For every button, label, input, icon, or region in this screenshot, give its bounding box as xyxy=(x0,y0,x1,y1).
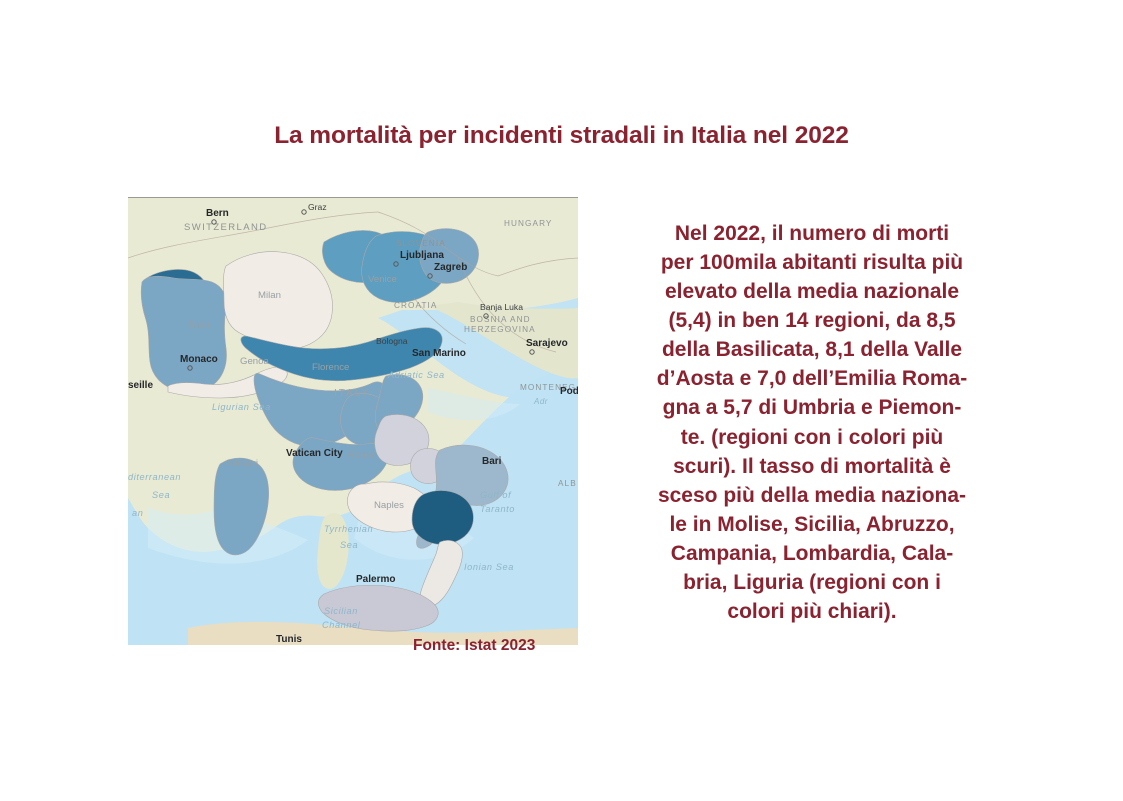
map-label-italy: ITALY xyxy=(334,388,370,399)
map-label-an: an xyxy=(132,508,143,518)
text-line: sceso più della media naziona- xyxy=(614,481,1010,510)
map-label-zagreb: Zagreb xyxy=(434,262,467,273)
text-line: della Basilicata, 8,1 della Valle xyxy=(614,335,1010,364)
map-label-taranto: Taranto xyxy=(480,504,515,514)
description-text: Nel 2022, il numero di morti per 100mila… xyxy=(614,219,1010,626)
map-label-ljubljana: Ljubljana xyxy=(400,250,444,261)
map-label-marseille: seille xyxy=(128,380,153,391)
map-label-milan: Milan xyxy=(258,290,281,301)
map-label-naples: Naples xyxy=(374,500,404,511)
text-line: colori più chiari). xyxy=(614,597,1010,626)
text-line: elevato della media nazionale xyxy=(614,277,1010,306)
italy-choropleth-map[interactable]: SWITZERLAND SLOVENIA CROATIA HUNGARY BOS… xyxy=(128,197,578,645)
map-label-adriatic-sea: Adriatic Sea xyxy=(387,370,445,380)
map-label-rome: Rome xyxy=(348,450,374,461)
map-label-bologna: Bologna xyxy=(376,336,408,346)
page-title: La mortalità per incidenti stradali in I… xyxy=(0,122,1123,150)
map-label-graz: Graz xyxy=(308,202,327,212)
map-label-bari: Bari xyxy=(482,456,502,467)
map-label-herzegovina: HERZEGOVINA xyxy=(464,325,536,334)
map-label-tyrrhenian-2: Sea xyxy=(340,540,358,550)
map-label-bosnia: BOSNIA AND xyxy=(470,315,531,324)
map-label-sassari: Sassari xyxy=(226,458,258,469)
text-line: scuri). Il tasso di mortalità è xyxy=(614,452,1010,481)
text-line: le in Molise, Sicilia, Abruzzo, xyxy=(614,510,1010,539)
map-label-channel: Channel xyxy=(322,620,361,630)
text-line: (5,4) in ben 14 regioni, da 8,5 xyxy=(614,306,1010,335)
region-basilicata xyxy=(412,491,473,545)
map-label-hungary: HUNGARY xyxy=(504,219,553,228)
map-label-ligurian-sea: Ligurian Sea xyxy=(212,402,271,412)
map-label-croatia: CROATIA xyxy=(394,301,437,310)
text-line: per 100mila abitanti risulta più xyxy=(614,248,1010,277)
map-label-adr: Adr xyxy=(533,397,548,406)
text-line: te. (regioni con i colori più xyxy=(614,423,1010,452)
map-label-slovenia: SLOVENIA xyxy=(396,239,446,248)
map-figure: SWITZERLAND SLOVENIA CROATIA HUNGARY BOS… xyxy=(128,197,578,645)
map-label-monaco: Monaco xyxy=(180,354,218,365)
map-label-sicilian: Sicilian xyxy=(324,606,358,616)
text-line: Nel 2022, il numero di morti xyxy=(614,219,1010,248)
map-label-sarajevo: Sarajevo xyxy=(526,338,568,349)
map-label-mediterranean: diterranean xyxy=(128,472,181,482)
map-label-venice: Venice xyxy=(368,274,397,285)
map-label-turin: Turin xyxy=(188,320,210,331)
map-label-tyrrhenian: Tyrrhenian xyxy=(324,524,373,534)
map-label-san-marino: San Marino xyxy=(412,348,466,359)
map-label-ionian-sea: Ionian Sea xyxy=(464,562,514,572)
map-label-palermo: Palermo xyxy=(356,574,395,585)
map-label-florence: Florence xyxy=(312,362,349,373)
map-label-gulf-of: Gulf of xyxy=(480,490,512,500)
text-line: d’Aosta e 7,0 dell’Emilia Roma- xyxy=(614,364,1010,393)
map-label-podgorica: Pod xyxy=(560,386,578,397)
text-line: Campania, Lombardia, Cala- xyxy=(614,539,1010,568)
map-label-albania: ALB xyxy=(558,479,577,488)
text-line: bria, Liguria (regioni con i xyxy=(614,568,1010,597)
map-label-banja-luka: Banja Luka xyxy=(480,302,523,312)
map-label-switzerland: SWITZERLAND xyxy=(184,222,268,233)
map-label-mediterranean-2: Sea xyxy=(152,490,170,500)
map-label-tunis: Tunis xyxy=(276,634,302,645)
text-line: gna a 5,7 di Umbria e Piemon- xyxy=(614,393,1010,422)
source-caption: Fonte: Istat 2023 xyxy=(413,637,535,655)
map-label-genoa: Genoa xyxy=(240,356,269,367)
map-label-bern: Bern xyxy=(206,208,229,219)
map-label-vatican-city: Vatican City xyxy=(286,448,343,459)
